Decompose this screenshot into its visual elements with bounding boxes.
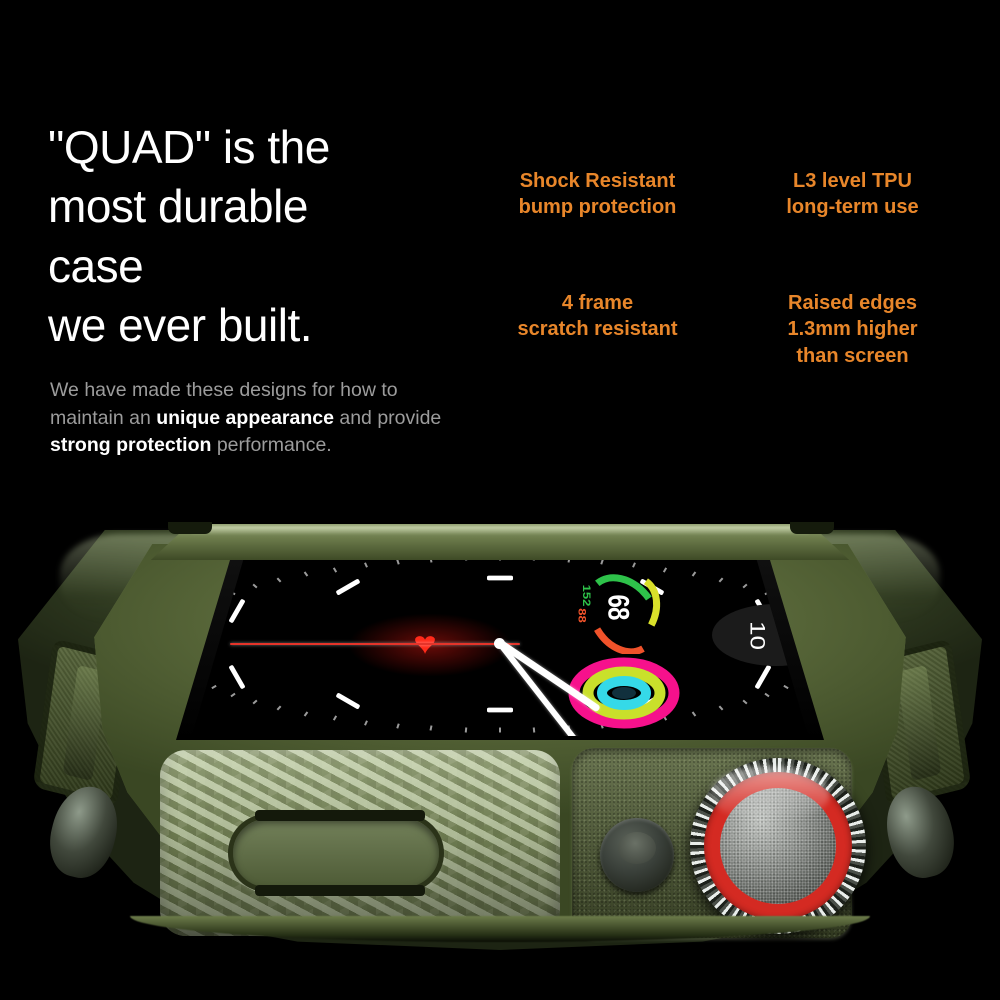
minute-tick (252, 699, 257, 704)
minute-tick (632, 563, 636, 568)
minute-tick (533, 727, 536, 732)
headline-line-4: we ever built. (48, 296, 468, 355)
dial-value: 68 (601, 594, 635, 619)
feature-line-1: Raised edges (725, 290, 980, 316)
headline-line-3: case (48, 237, 468, 296)
minute-tick (277, 578, 282, 583)
minute-tick (764, 692, 769, 697)
minute-tick (396, 723, 399, 728)
feature-callout-raised-edges: Raised edges 1.3mm higher than screen (725, 290, 980, 369)
minute-tick (783, 685, 788, 689)
subcopy-highlight-1: unique appearance (156, 407, 334, 429)
second-hand (230, 643, 520, 645)
case-notch-left (168, 522, 212, 534)
minute-tick (333, 567, 337, 572)
minute-tick (333, 716, 337, 721)
feature-line-2: bump protection (470, 194, 725, 220)
feature-line-1: Shock Resistant (470, 168, 725, 194)
subcopy-highlight-2: strong protection (50, 434, 211, 456)
hand-pivot (494, 638, 505, 649)
minute-tick (304, 711, 309, 716)
side-button-cutout (228, 814, 444, 892)
feature-callout-shock-resistant: Shock Resistant bump protection (470, 168, 725, 221)
product-photo: ♥ 152 88 68 10 TUE (0, 500, 1000, 980)
digital-crown-highlight (710, 766, 830, 822)
feature-line-3: than screen (725, 343, 980, 369)
minute-tick (464, 727, 467, 732)
feature-callout-4-frame: 4 frame scratch resistant (470, 290, 725, 343)
page-headline: "QUAD" is the most durable case we ever … (48, 118, 468, 355)
activity-dial-complication: 152 88 68 (564, 574, 682, 654)
case-notch-right (790, 522, 834, 534)
heart-rate-complication: ♥ (350, 614, 510, 676)
feature-line-1: L3 level TPU (725, 168, 980, 194)
feature-line-2: scratch resistant (470, 316, 725, 342)
minute-tick (718, 578, 723, 583)
digital-crown (690, 758, 866, 934)
minute-tick (692, 711, 697, 716)
case-bottom-rim (130, 916, 870, 942)
minute-tick (304, 572, 309, 577)
subcopy-text-2: and provide (334, 407, 441, 429)
minute-tick (277, 705, 282, 710)
minute-tick (364, 563, 368, 568)
dial-subvalue-top: 152 (580, 585, 593, 607)
minute-tick (499, 728, 501, 733)
feature-line-2: 1.3mm higher (725, 316, 980, 342)
page-subcopy: We have made these designs for how to ma… (50, 377, 470, 460)
minute-tick (252, 584, 257, 589)
minute-tick (600, 560, 603, 565)
minute-tick (743, 584, 748, 589)
subcopy-text-3: performance. (211, 434, 331, 456)
minute-tick (692, 572, 697, 577)
headline-line-1: "QUAD" is the (48, 118, 468, 177)
feature-callout-list: Shock Resistant bump protection L3 level… (470, 160, 980, 390)
minute-tick (364, 720, 368, 725)
minute-tick (230, 692, 235, 697)
hour-marker (487, 576, 513, 581)
headline-line-2: most durable (48, 177, 468, 236)
dial-subvalue-bottom: 88 (576, 608, 589, 622)
minute-tick (743, 699, 748, 704)
hour-marker (487, 708, 513, 713)
minute-tick (212, 685, 217, 689)
watch-screen: ♥ 152 88 68 10 TUE (150, 552, 850, 736)
feature-line-2: long-term use (725, 194, 980, 220)
minute-tick (430, 725, 433, 730)
heart-icon: ♥ (398, 632, 452, 659)
minute-tick (718, 705, 723, 710)
minute-tick (396, 560, 399, 565)
minute-tick (663, 567, 667, 572)
feature-line-1: 4 frame (470, 290, 725, 316)
feature-callout-l3-tpu: L3 level TPU long-term use (725, 168, 980, 221)
date-day-number: 10 (745, 621, 770, 650)
side-button (600, 818, 674, 892)
raised-bezel-edge (112, 524, 888, 560)
